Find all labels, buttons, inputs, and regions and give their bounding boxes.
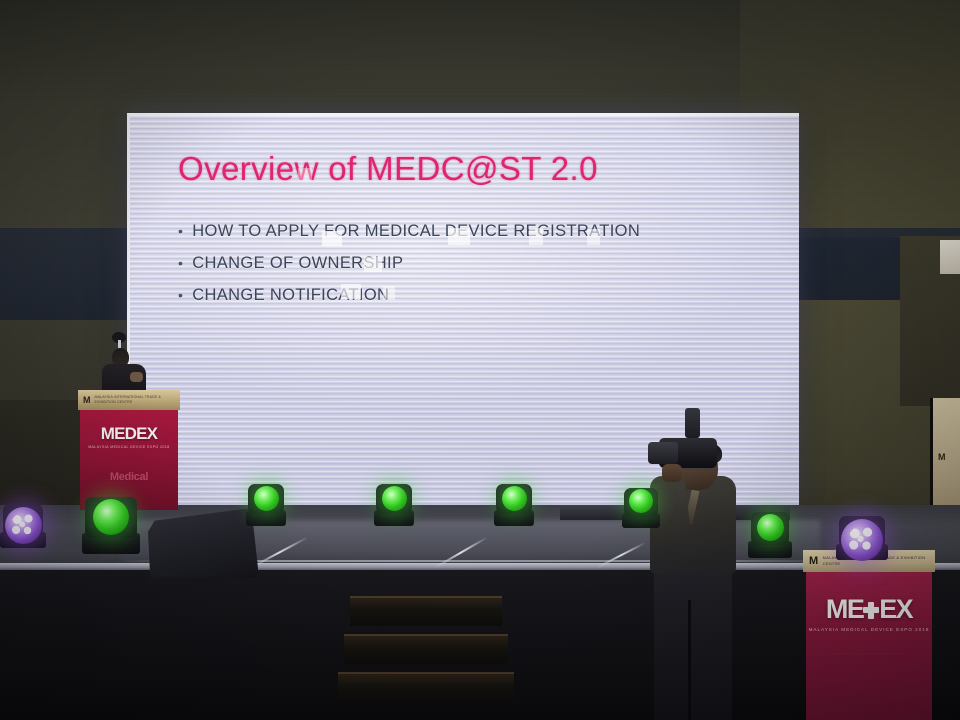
green-lamp-icon: [254, 486, 279, 511]
camera-flash-unit: [685, 408, 700, 438]
slide-bullet-text: CHANGE OF OWNERSHIP: [192, 254, 403, 273]
photographer-person: [626, 432, 754, 720]
banner-body: ME EX MALAYSIA MEDICAL DEVICE EXPO 2018 …: [806, 572, 932, 720]
photographer-hand: [662, 464, 682, 482]
moving-head-center-1: [246, 480, 286, 526]
podium-brand-logo: MEDEX: [101, 424, 157, 444]
podium-venue-text: MALAYSIA INTERNATIONAL TRADE & EXHIBITIO…: [95, 395, 176, 406]
podium-secondary-text: Medical: [110, 471, 148, 483]
stage-steps: [338, 596, 514, 720]
slide-bullet-text: HOW TO APPLY FOR MEDICAL DEVICE REGISTRA…: [192, 222, 640, 241]
green-lamp-icon: [382, 486, 407, 511]
moving-head-center-4: [622, 484, 660, 528]
conference-photo-scene: Overview of MEDC@ST 2.0 • HOW TO APPLY F…: [0, 0, 960, 720]
moving-head-center-2: [374, 480, 414, 526]
slide-bullet-item: • CHANGE NOTIFICATION: [178, 286, 759, 305]
banner-brand-part-2: EX: [879, 594, 912, 625]
moving-head-left: [82, 492, 140, 554]
bullet-point-icon: •: [178, 288, 183, 302]
stage-step: [338, 672, 514, 702]
photographer-leg-gap: [688, 600, 691, 720]
purple-lamp-icon: [841, 519, 883, 561]
banner-faint-text: ————— ———— ———: [831, 648, 906, 661]
podium-top-strip: M MALAYSIA INTERNATIONAL TRADE & EXHIBIT…: [78, 390, 180, 410]
moving-head-right: [748, 508, 792, 558]
bullet-point-icon: •: [178, 224, 183, 238]
photographer-legs: [654, 562, 732, 720]
side-structure-light-top: [940, 240, 960, 274]
slide-bullet-list: • HOW TO APPLY FOR MEDICAL DEVICE REGIST…: [178, 222, 759, 305]
speaker-hand: [130, 372, 143, 382]
stage-step: [344, 634, 508, 664]
wash-light-right: [836, 512, 888, 560]
moving-head-center-3: [494, 480, 534, 526]
medex-banner-right: M MALAYSIA INTERNATIONAL TRADE & EXHIBIT…: [803, 550, 935, 720]
podium-brand-subtitle: MALAYSIA MEDICAL DEVICE EXPO 2018: [88, 445, 169, 449]
bullet-point-icon: •: [178, 256, 183, 270]
purple-lamp-icon: [5, 507, 42, 544]
slide-bullet-text: CHANGE NOTIFICATION: [192, 286, 389, 305]
slide-content: Overview of MEDC@ST 2.0 • HOW TO APPLY F…: [130, 116, 799, 305]
side-panel-logo-mark: M: [938, 452, 945, 462]
banner-brand-subtitle: MALAYSIA MEDICAL DEVICE EXPO 2018: [809, 627, 930, 632]
banner-logo-mark: M: [809, 555, 817, 567]
slide-bullet-item: • HOW TO APPLY FOR MEDICAL DEVICE REGIST…: [178, 222, 759, 241]
wash-light-left: [0, 500, 46, 548]
medical-cross-icon: [862, 600, 880, 620]
podium-logo-mark: M: [83, 395, 90, 405]
banner-brand-logo: ME EX: [826, 594, 912, 625]
green-lamp-icon: [93, 499, 129, 535]
green-lamp-icon: [757, 514, 784, 541]
speaker-person: [102, 348, 148, 394]
camera-lens: [648, 442, 678, 464]
stage-step: [350, 596, 502, 626]
banner-brand-part-1: ME: [826, 594, 863, 625]
slide-title: Overview of MEDC@ST 2.0: [178, 150, 759, 188]
green-lamp-icon: [629, 489, 653, 513]
slide-bullet-item: • CHANGE OF OWNERSHIP: [178, 254, 759, 273]
green-lamp-icon: [502, 486, 527, 511]
